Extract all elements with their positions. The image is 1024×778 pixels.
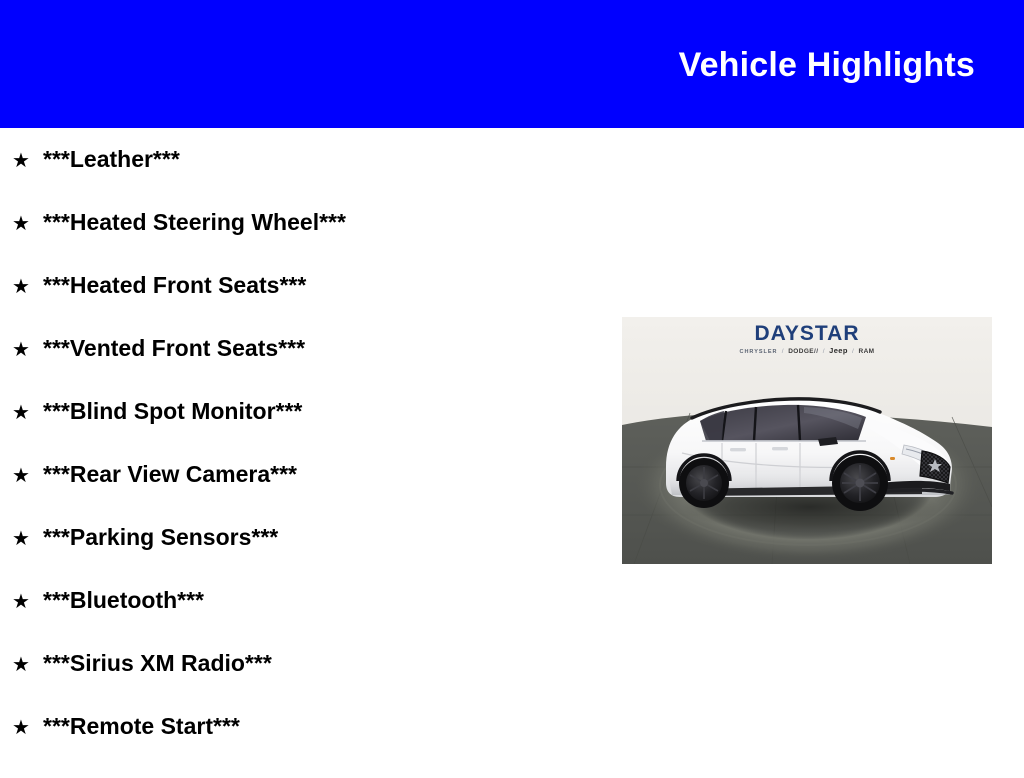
star-icon: ★ [12,403,43,423]
star-icon: ★ [12,655,43,675]
list-item-label: ***Sirius XM Radio*** [43,652,272,675]
star-icon: ★ [12,151,43,171]
star-icon: ★ [12,340,43,360]
star-icon: ★ [12,466,43,486]
list-item: ★ ***Parking Sensors*** [0,526,600,589]
list-item-label: ***Parking Sensors*** [43,526,278,549]
star-icon: ★ [12,214,43,234]
star-icon: ★ [12,718,43,738]
list-item-label: ***Heated Front Seats*** [43,274,306,297]
star-icon: ★ [12,529,43,549]
list-item: ★ ***Rear View Camera*** [0,463,600,526]
page-title: Vehicle Highlights [679,44,975,86]
list-item-label: ***Vented Front Seats*** [43,337,305,360]
list-item-label: ***Leather*** [43,148,180,171]
vehicle-highlights-list: ★ ***Leather*** ★ ***Heated Steering Whe… [0,128,600,778]
star-icon: ★ [12,277,43,297]
list-item-label: ***Blind Spot Monitor*** [43,400,302,423]
list-item: ★ ***Heated Front Seats*** [0,274,600,337]
list-item: ★ ***Remote Start*** [0,715,600,778]
star-icon: ★ [12,592,43,612]
header-banner: Vehicle Highlights [0,0,1024,128]
vehicle-illustration [622,317,992,564]
list-item-label: ***Bluetooth*** [43,589,204,612]
list-item: ★ ***Vented Front Seats*** [0,337,600,400]
list-item-label: ***Rear View Camera*** [43,463,297,486]
vehicle-photo: DAYSTAR CHRYSLER / DODGE// / Jeep / RAM [622,317,992,564]
list-item: ★ ***Sirius XM Radio*** [0,652,600,715]
list-item: ★ ***Leather*** [0,128,600,211]
list-item-label: ***Heated Steering Wheel*** [43,211,346,234]
list-item-label: ***Remote Start*** [43,715,240,738]
list-item: ★ ***Bluetooth*** [0,589,600,652]
list-item: ★ ***Blind Spot Monitor*** [0,400,600,463]
list-item: ★ ***Heated Steering Wheel*** [0,211,600,274]
